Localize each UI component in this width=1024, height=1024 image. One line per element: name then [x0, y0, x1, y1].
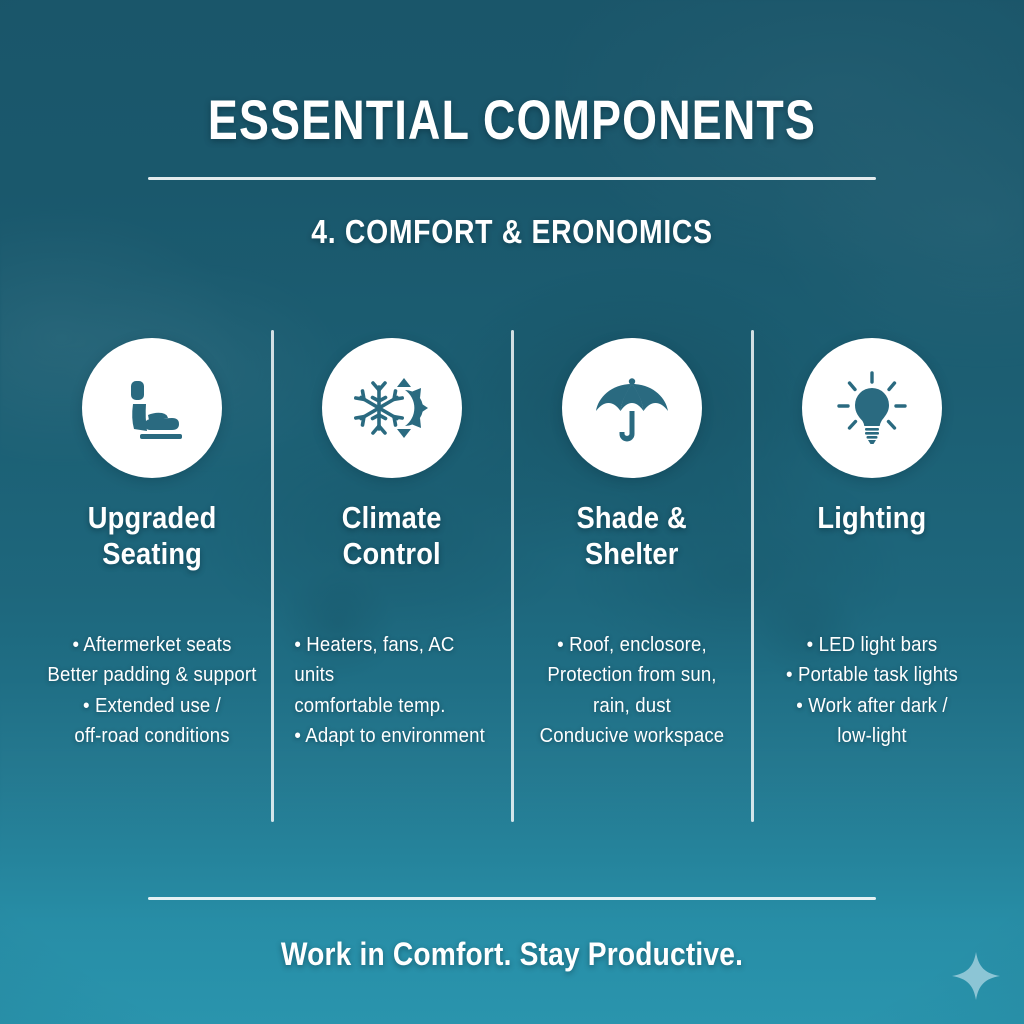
infographic-slide: ESSENTIAL COMPONENTS 4. COMFORT & ERONOM… [0, 0, 1024, 1024]
icon-badge-shade-shelter [562, 338, 702, 478]
bullet-line: off-road conditions [41, 721, 262, 751]
bullet-line: • Roof, enclosore, [521, 630, 742, 660]
feature-title: ClimateControl [342, 500, 442, 573]
bullet-line: Conducive workspace [521, 721, 742, 751]
bullet-line: Better padding & support [41, 660, 262, 690]
bullet-line: • LED light bars [761, 630, 982, 660]
feature-column-shade-shelter[interactable]: Shade &Shelter • Roof, enclosore, Protec… [512, 330, 752, 830]
feature-column-upgraded-seating[interactable]: UpgradedSeating • Aftermerket seats Bett… [32, 330, 272, 830]
header-divider-rule [148, 177, 876, 180]
feature-bullets: • Aftermerket seats Better padding & sup… [41, 630, 262, 752]
page-subtitle: 4. COMFORT & ERONOMICS [72, 213, 953, 251]
bullet-line: units [294, 660, 502, 690]
feature-bullets: • LED light bars • Portable task lights … [761, 630, 982, 752]
sparkle-icon [950, 950, 1002, 1002]
bullet-line: comfortable temp. [294, 691, 502, 721]
snowflake-sun-icon [350, 368, 434, 448]
icon-badge-climate-control [322, 338, 462, 478]
feature-column-lighting[interactable]: Lighting • LED light bars • Portable tas… [752, 330, 992, 830]
footer-tagline: Work in Comfort. Stay Productive. [61, 936, 962, 973]
bullet-line: • Aftermerket seats [41, 630, 262, 660]
icon-badge-upgraded-seating [82, 338, 222, 478]
umbrella-icon [591, 368, 673, 448]
bullet-line: rain, dust [521, 691, 742, 721]
page-title: ESSENTIAL COMPONENTS [102, 92, 921, 148]
bullet-line: • Extended use / [41, 691, 262, 721]
bullet-line: • Work after dark / [761, 691, 982, 721]
feature-title: Shade &Shelter [577, 500, 687, 573]
bullet-line: Protection from sun, [521, 660, 742, 690]
icon-badge-lighting [802, 338, 942, 478]
feature-column-climate-control[interactable]: ClimateControl • Heaters, fans, AC units… [272, 330, 512, 830]
bullet-line: low-light [761, 721, 982, 751]
bullet-line: • Heaters, fans, AC [294, 630, 502, 660]
feature-title: Lighting [818, 500, 927, 536]
feature-title: UpgradedSeating [88, 500, 217, 573]
bullet-line: • Portable task lights [761, 660, 982, 690]
feature-bullets: • Heaters, fans, AC units comfortable te… [281, 630, 502, 752]
feature-bullets: • Roof, enclosore, Protection from sun, … [521, 630, 742, 752]
feature-columns: UpgradedSeating • Aftermerket seats Bett… [0, 330, 1024, 830]
car-seat-icon [112, 368, 192, 448]
bullet-line: • Adapt to environment [294, 721, 502, 751]
lightbulb-icon [832, 368, 912, 448]
footer-divider-rule [148, 897, 876, 900]
